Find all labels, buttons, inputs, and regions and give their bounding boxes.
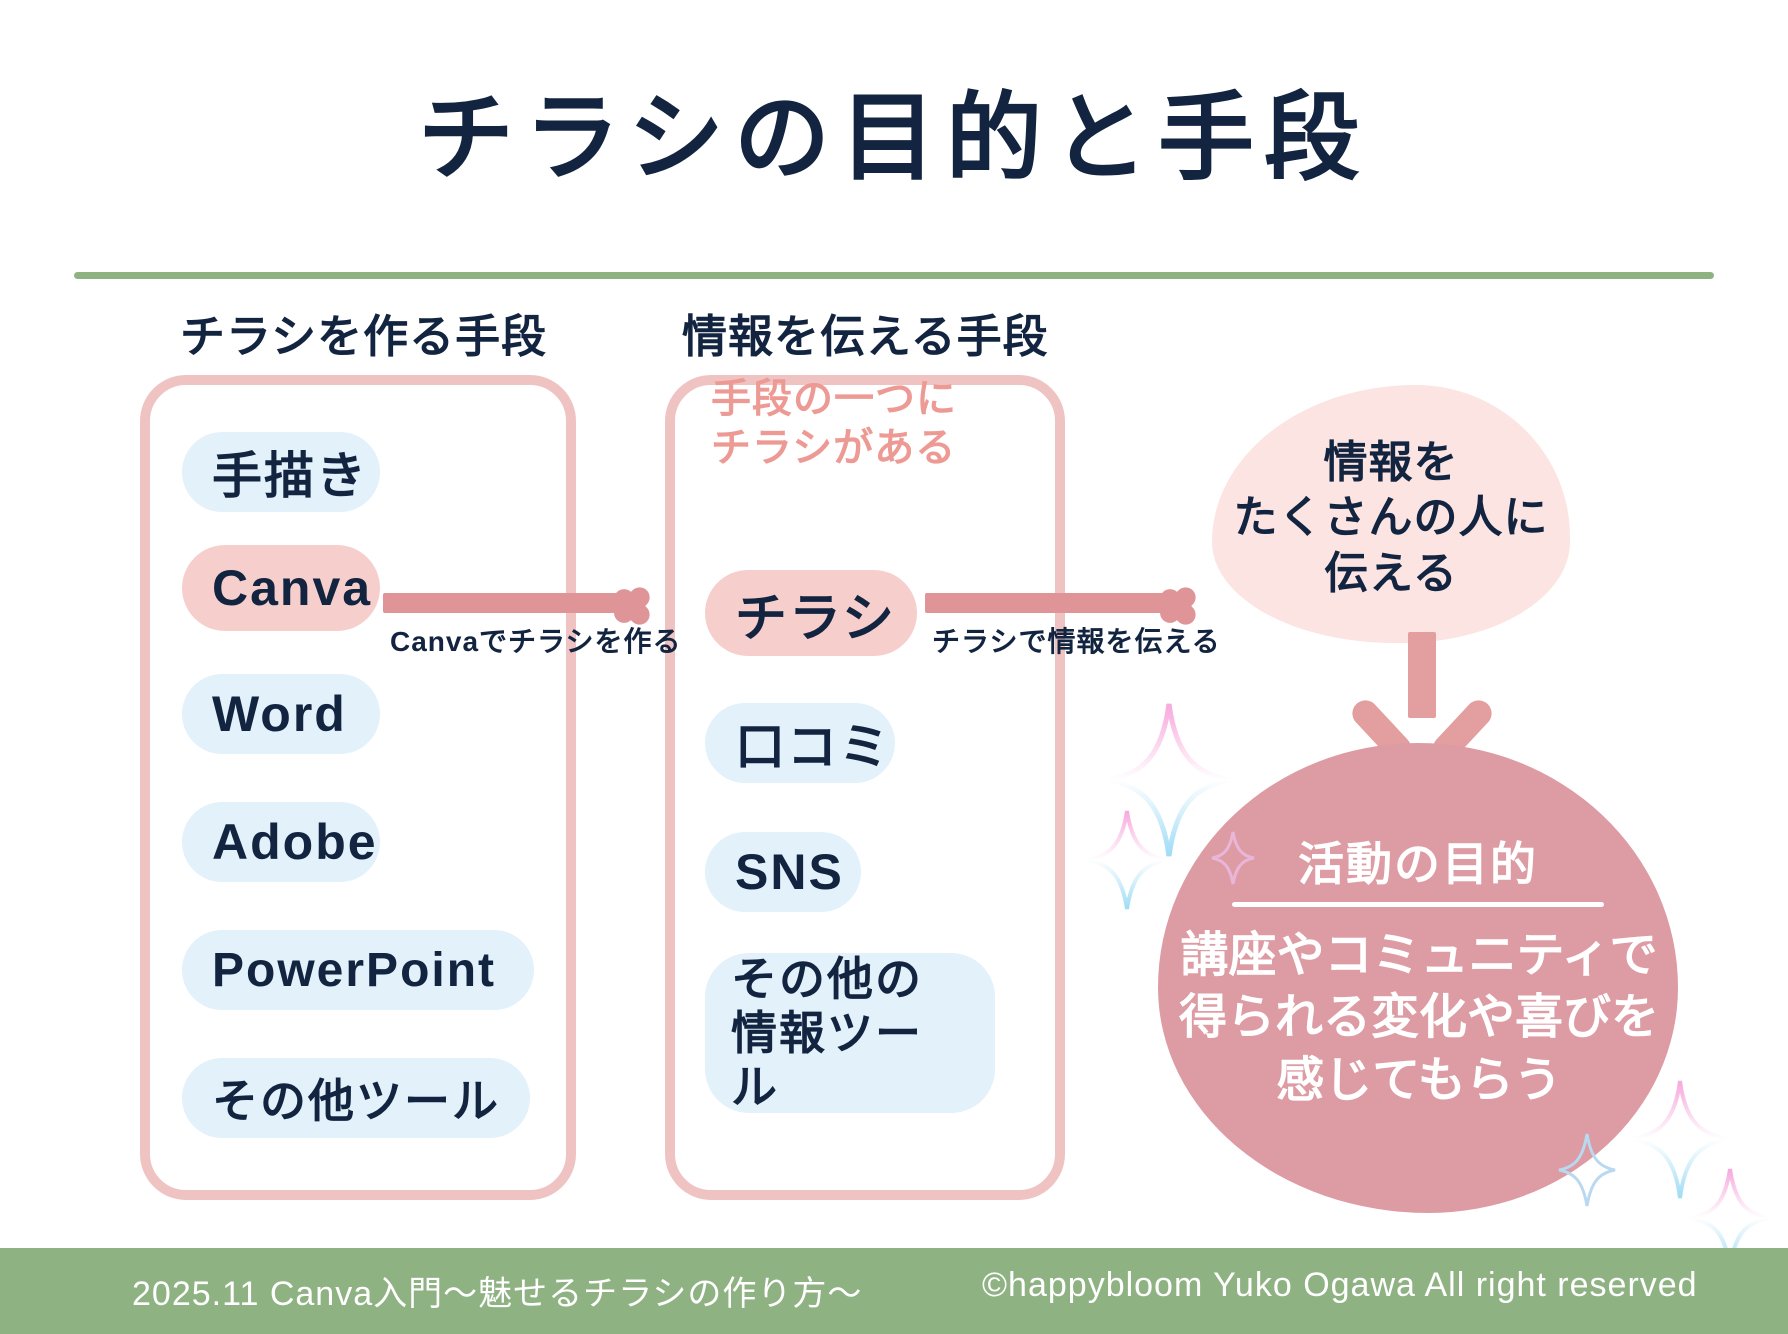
left-item-powerpoint[interactable]: PowerPoint — [182, 930, 534, 1010]
sparkle-icon — [1556, 1132, 1618, 1208]
goal-divider — [1232, 902, 1604, 907]
footer-left-text: 2025.11 Canva入門〜魅せるチラシの作り方〜 — [132, 1266, 862, 1315]
middle-item-sns[interactable]: SNS — [705, 832, 861, 912]
left-item-other-tool[interactable]: その他ツール — [182, 1058, 530, 1138]
result-blob-text: 情報を たくさんの人に 伝える — [1212, 435, 1570, 601]
sparkle-icon — [1084, 808, 1170, 912]
left-item-word[interactable]: Word — [182, 674, 380, 754]
footer-right-text: ©happybloom Yuko Ogawa All right reserve… — [982, 1266, 1698, 1305]
goal-body-text: 講座やコミュニティで 得られる変化や喜びを 感じてもらう — [1152, 925, 1686, 1112]
middle-column-hint: 手段の一つに チラシがある — [711, 375, 1041, 473]
middle-item-other-info-tool[interactable]: その他の 情報ツール — [705, 953, 995, 1113]
middle-item-kuchikomi[interactable]: 口コミ — [705, 703, 895, 783]
arrow-down-icon — [1382, 632, 1462, 754]
arrow-shaft — [383, 593, 631, 613]
slide-canvas: チラシの目的と手段 チラシを作る手段 情報を伝える手段 手描き Canva Wo… — [0, 0, 1788, 1334]
left-column-header: チラシを作る手段 — [180, 300, 547, 365]
title-divider — [74, 272, 1714, 279]
arrow-shaft — [925, 593, 1177, 613]
sparkle-icon — [1210, 830, 1256, 886]
left-item-adobe[interactable]: Adobe — [182, 802, 380, 882]
left-item-canva[interactable]: Canva — [182, 545, 380, 631]
middle-column-header: 情報を伝える手段 — [682, 300, 1049, 365]
arrow-first-label: Canvaでチラシを作る — [390, 620, 681, 660]
left-item-tegaki[interactable]: 手描き — [182, 432, 380, 512]
arrow-second-label: チラシで情報を伝える — [932, 620, 1221, 660]
page-title: チラシの目的と手段 — [0, 86, 1788, 192]
middle-item-chirashi[interactable]: チラシ — [705, 570, 917, 656]
